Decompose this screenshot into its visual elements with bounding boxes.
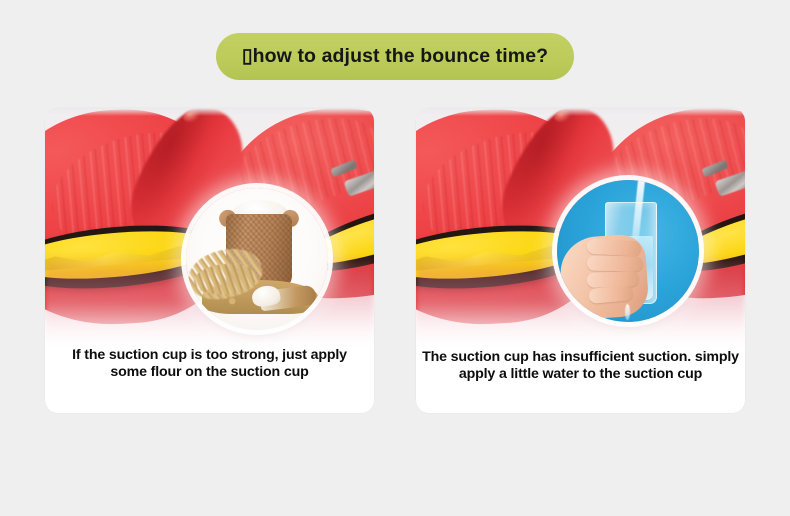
instruction-panel-insufficient-suction[interactable]: The suction cup has insufficient suction… [416, 108, 745, 413]
panel-caption-left: If the suction cup is too strong, just a… [45, 347, 374, 381]
inset-image-flour-sack [186, 188, 328, 330]
instruction-panels: If the suction cup is too strong, just a… [45, 108, 745, 413]
water-scene [557, 180, 699, 322]
hand-finger-3 [587, 271, 639, 288]
page-header: ▯how to adjust the bounce time? [0, 33, 790, 80]
photo-top-haze [45, 108, 374, 116]
instruction-panel-too-strong[interactable]: If the suction cup is too strong, just a… [45, 108, 374, 413]
title-banner: ▯how to adjust the bounce time? [216, 33, 574, 80]
hand-finger-1 [587, 239, 642, 257]
flour-scene [186, 188, 328, 330]
water-drip-icon [625, 304, 630, 320]
panel-caption-right: The suction cup has insufficient suction… [416, 349, 745, 383]
hand-finger-2 [587, 256, 643, 272]
photo-top-haze [416, 108, 745, 116]
inset-image-water-glass [557, 180, 699, 322]
page-title: ▯how to adjust the bounce time? [242, 47, 548, 67]
